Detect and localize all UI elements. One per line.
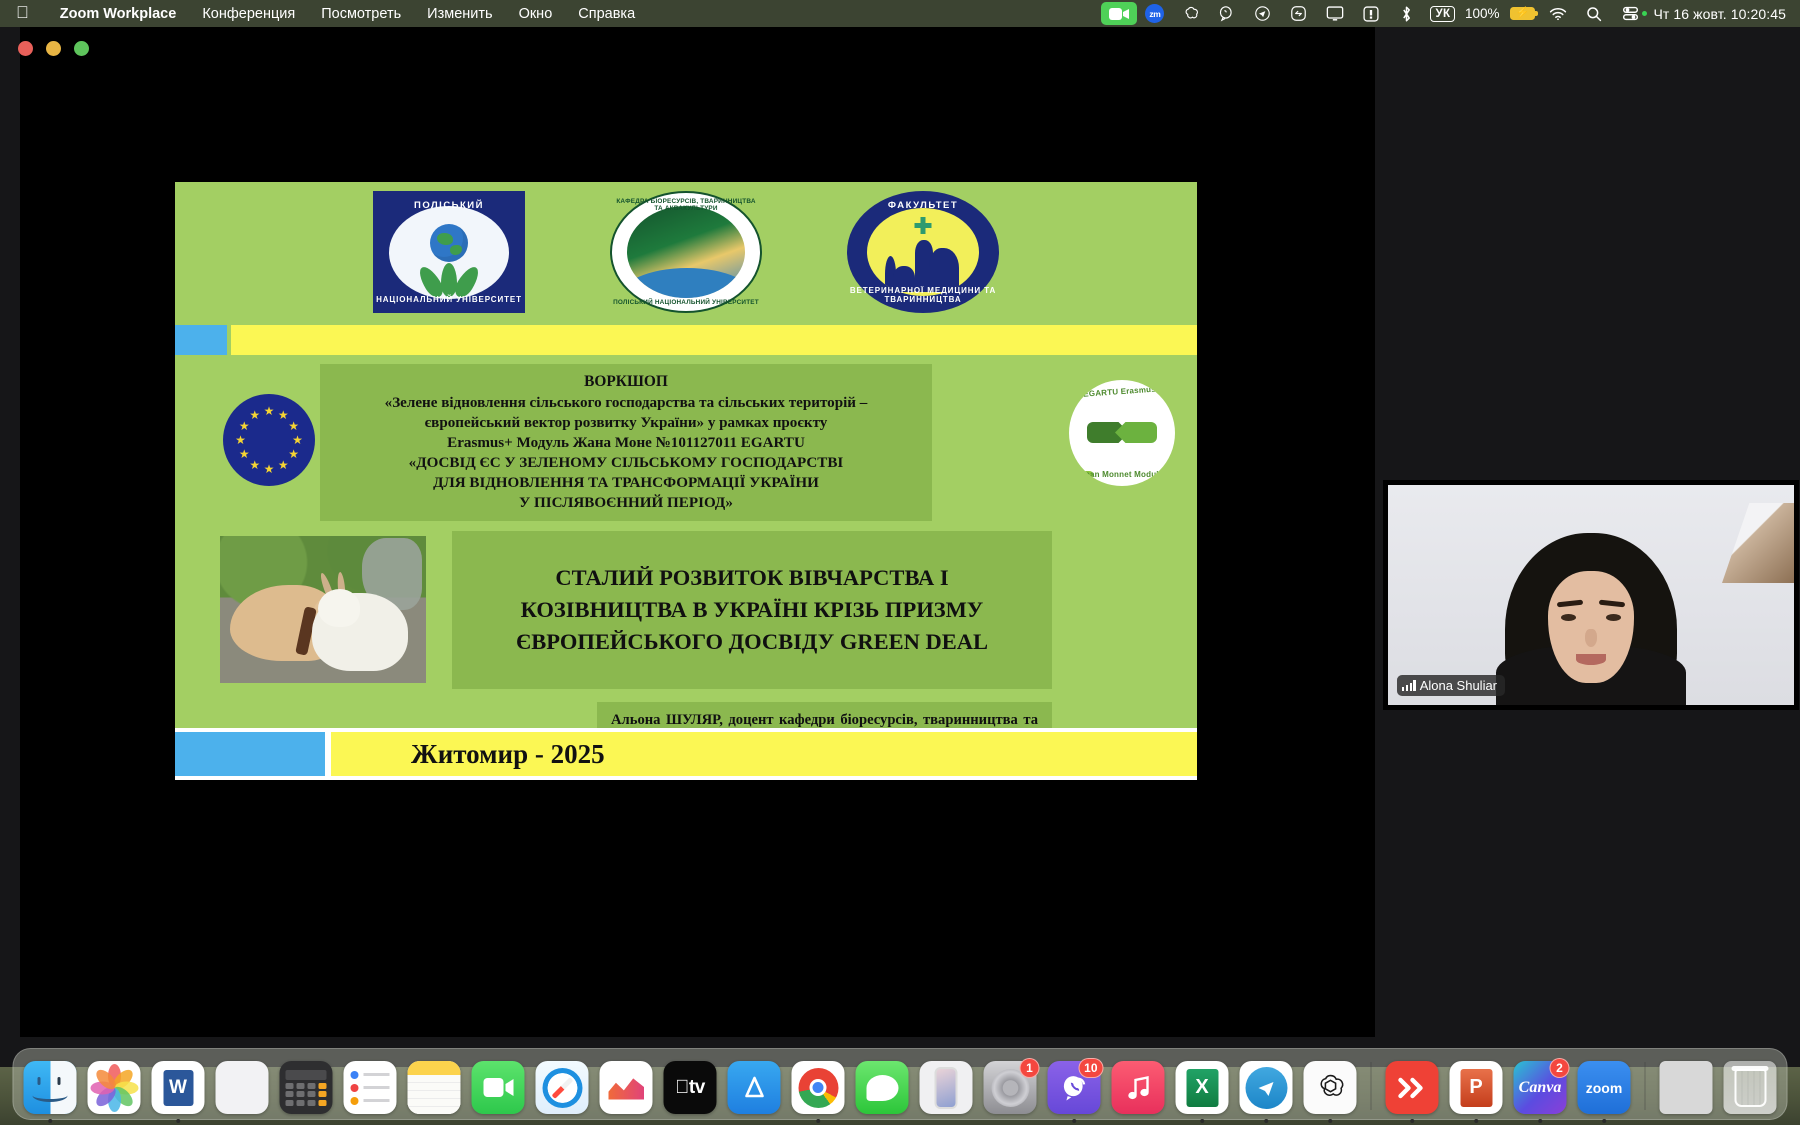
eu-star-icon: ★ <box>278 459 289 471</box>
dock-item-music[interactable] <box>1112 1061 1165 1114</box>
slide-logo-row: ПОЛІСЬКИЙ НАЦІОНАЛЬНИЙ УНІВЕРСИТЕТ КАФЕД… <box>175 182 1197 322</box>
participant-video-tile[interactable]: Alona Shuliar <box>1383 480 1799 710</box>
accent-bar-yellow <box>231 325 1197 355</box>
veterinary-cross-icon <box>915 217 932 234</box>
globe-icon <box>430 224 468 262</box>
accent-bar-blue <box>175 325 227 355</box>
shared-screen-stage: ПОЛІСЬКИЙ НАЦІОНАЛЬНИЙ УНІВЕРСИТЕТ КАФЕД… <box>20 27 1375 1037</box>
logo2-text-top: КАФЕДРА БІОРЕСУРСІВ, ТВАРИННИЦТВА ТА АКВ… <box>612 198 760 212</box>
dock-separator <box>1645 1062 1646 1110</box>
eu-star-icon: ★ <box>288 448 299 460</box>
app-running-indicator <box>1328 1119 1333 1124</box>
dock-item-zoom[interactable]: zoom <box>1578 1061 1631 1114</box>
dock-item-word[interactable]: W <box>152 1061 205 1114</box>
dock-item-trash[interactable] <box>1724 1061 1777 1114</box>
participant-name-badge: Alona Shuliar <box>1397 675 1505 696</box>
battery-percent: 100% <box>1461 6 1505 21</box>
menu-app-name[interactable]: Zoom Workplace <box>47 6 190 22</box>
menu-window[interactable]: Окно <box>506 6 566 22</box>
workshop-line-6: У ПІСЛЯВОЄННИЙ ПЕРІОД» <box>519 493 733 513</box>
minimize-window-button[interactable] <box>46 41 61 56</box>
eu-star-icon: ★ <box>288 420 299 432</box>
logo1-text-top: ПОЛІСЬКИЙ <box>373 200 525 211</box>
window-traffic-lights <box>18 41 89 56</box>
goat-and-sheep-photo <box>217 533 429 686</box>
dock-item-messages[interactable] <box>856 1061 909 1114</box>
menu-edit[interactable]: Изменить <box>414 6 505 22</box>
workshop-line-5: ДЛЯ ВІДНОВЛЕННЯ ТА ТРАНСФОРМАЦІЇ УКРАЇНИ <box>433 473 819 493</box>
polissia-national-university-logo: ПОЛІСЬКИЙ НАЦІОНАЛЬНИЙ УНІВЕРСИТЕТ <box>373 191 525 313</box>
veterinary-faculty-logo: ФАКУЛЬТЕТ ВЕТЕРИНАРНОЇ МЕДИЦИНИ ТА ТВАРИ… <box>847 191 999 313</box>
eu-star-icon: ★ <box>292 434 303 446</box>
search-icon[interactable] <box>1576 0 1612 27</box>
presentation-slide[interactable]: ПОЛІСЬКИЙ НАЦІОНАЛЬНИЙ УНІВЕРСИТЕТ КАФЕД… <box>175 182 1197 780</box>
app-running-indicator <box>1200 1119 1205 1124</box>
logo3-text-top: ФАКУЛЬТЕТ <box>847 200 999 211</box>
vet-silhouettes-icon <box>885 234 961 292</box>
app-running-indicator <box>1072 1119 1077 1124</box>
menu-bar-clock[interactable]: Чт 16 жовт. 10:20:45 <box>1647 6 1786 22</box>
title-line-2: КОЗІВНИЦТВА В УКРАЇНІ КРІЗЬ ПРИЗМУ <box>521 594 984 626</box>
department-bioresources-logo: КАФЕДРА БІОРЕСУРСІВ, ТВАРИННИЦТВА ТА АКВ… <box>610 191 762 313</box>
app-running-indicator <box>1264 1119 1269 1124</box>
dock-item-safari[interactable] <box>536 1061 589 1114</box>
dock-item-photos[interactable] <box>88 1061 141 1114</box>
dock-item-canva-badge: 2 <box>1550 1058 1570 1078</box>
dock[interactable]: Wtv110XPCanva2zoom <box>13 1048 1788 1120</box>
zoom-zm-icon[interactable]: zm <box>1137 0 1173 27</box>
eu-star-icon: ★ <box>249 459 260 471</box>
menu-help[interactable]: Справка <box>565 6 648 22</box>
workshop-line-2: європейський вектор розвитку України» у … <box>425 413 828 433</box>
close-window-button[interactable] <box>18 41 33 56</box>
telegram-icon[interactable] <box>1245 0 1281 27</box>
dock-item-system-settings[interactable]: 1 <box>984 1061 1037 1114</box>
footer-yellow-block: Житомир - 2025 <box>331 732 1197 776</box>
battery-charging-icon[interactable]: ⚡ <box>1504 0 1540 27</box>
dock-item-appletv[interactable]: tv <box>664 1061 717 1114</box>
zoom-meeting-window: ПОЛІСЬКИЙ НАЦІОНАЛЬНИЙ УНІВЕРСИТЕТ КАФЕД… <box>0 27 1800 1067</box>
logo3-text-bottom: ВЕТЕРИНАРНОЇ МЕДИЦИНИ ТА ТВАРИННИЦТВА <box>847 286 999 304</box>
app-running-indicator <box>1474 1119 1479 1124</box>
app-running-indicator <box>48 1119 53 1124</box>
app-running-indicator <box>176 1119 181 1124</box>
dock-item-reminders[interactable] <box>344 1061 397 1114</box>
eu-star-icon: ★ <box>235 434 246 446</box>
footer-city-year: Житомир - 2025 <box>411 739 605 770</box>
dock-item-notes[interactable] <box>408 1061 461 1114</box>
menu-bar-status-area: zm УК 100% ⚡ <box>1101 0 1800 27</box>
bluetooth-icon[interactable] <box>1389 0 1425 27</box>
european-union-flag: ★★★★★★★★★★★★ <box>223 394 315 486</box>
dock-item-calculator[interactable] <box>280 1061 333 1114</box>
dock-item-iphone-mirroring[interactable] <box>920 1061 973 1114</box>
app-running-indicator <box>816 1119 821 1124</box>
workshop-heading: ВОРКШОП <box>584 372 668 392</box>
anydesk-icon[interactable] <box>1281 0 1317 27</box>
logo1-text-bottom: НАЦІОНАЛЬНИЙ УНІВЕРСИТЕТ <box>373 295 525 304</box>
dock-item-anydesk[interactable] <box>1386 1061 1439 1114</box>
eu-star-icon: ★ <box>264 405 275 417</box>
app-running-indicator <box>1410 1119 1415 1124</box>
menu-bar-left:  Zoom Workplace Конференция Посмотреть … <box>0 5 648 22</box>
workshop-line-1: «Зелене відновлення сільського господарс… <box>385 393 868 413</box>
dock-separator <box>1371 1062 1372 1110</box>
maximize-window-button[interactable] <box>74 41 89 56</box>
dock-item-canva[interactable]: Canva2 <box>1514 1061 1567 1114</box>
title-line-1: СТАЛИЙ РОЗВИТОК ВІВЧАРСТВА І <box>555 562 948 594</box>
app-running-indicator <box>1538 1119 1543 1124</box>
workshop-text-box: ВОРКШОП «Зелене відновлення сільського г… <box>320 364 932 521</box>
openai-icon[interactable] <box>1173 0 1209 27</box>
dock-item-telegram[interactable] <box>1240 1061 1293 1114</box>
slide-main-title: СТАЛИЙ РОЗВИТОК ВІВЧАРСТВА І КОЗІВНИЦТВА… <box>452 531 1052 689</box>
dock-item-viber[interactable]: 10 <box>1048 1061 1101 1114</box>
display-icon[interactable] <box>1317 0 1353 27</box>
eu-star-icon: ★ <box>239 420 250 432</box>
wifi-icon[interactable] <box>1540 0 1576 27</box>
menu-bar:  Zoom Workplace Конференция Посмотреть … <box>0 0 1800 27</box>
dock-item-excel[interactable]: X <box>1176 1061 1229 1114</box>
dock-item-system-settings-badge: 1 <box>1020 1058 1040 1078</box>
egartu-text-bottom: Jean Monnet Module <box>1069 470 1175 479</box>
logo2-text-bottom: ПОЛІСЬКИЙ НАЦІОНАЛЬНИЙ УНІВЕРСИТЕТ <box>612 299 760 306</box>
eu-star-icon: ★ <box>264 463 275 475</box>
apple-logo-icon[interactable]:  <box>16 4 29 21</box>
dock-item-downloads-stack[interactable] <box>1660 1061 1713 1114</box>
participant-face <box>1548 571 1634 683</box>
viber-icon[interactable] <box>1209 0 1245 27</box>
dock-item-chrome[interactable] <box>792 1061 845 1114</box>
animals-landscape-emblem <box>627 206 745 298</box>
signal-bars-icon <box>1402 680 1416 691</box>
dock-item-chatgpt[interactable] <box>1304 1061 1357 1114</box>
dock-item-facetime[interactable] <box>472 1061 525 1114</box>
footer-blue-block <box>175 732 325 776</box>
alert-icon[interactable] <box>1353 0 1389 27</box>
dock-item-powerpoint[interactable]: P <box>1450 1061 1503 1114</box>
workshop-line-3: Erasmus+ Модуль Жана Моне №101127011 EGA… <box>447 433 805 453</box>
workshop-line-4: «ДОСВІД ЄС У ЗЕЛЕНОМУ СІЛЬСЬКОМУ ГОСПОДА… <box>409 453 844 473</box>
egartu-erasmus-jean-monnet-logo: EGARTU Erasmus+ Jean Monnet Module <box>1069 380 1175 486</box>
control-center-icon[interactable] <box>1612 0 1648 27</box>
participant-name-label: Alona Shuliar <box>1420 678 1497 693</box>
menu-conference[interactable]: Конференция <box>189 6 308 22</box>
slide-footer-bar: Житомир - 2025 <box>175 728 1197 780</box>
input-source-label: УК <box>1430 6 1455 22</box>
slide-accent-bar-top <box>175 325 1197 355</box>
menu-view[interactable]: Посмотреть <box>308 6 414 22</box>
eu-star-icon: ★ <box>278 409 289 421</box>
dock-item-finder[interactable] <box>24 1061 77 1114</box>
dock-item-launchpad[interactable] <box>216 1061 269 1114</box>
eu-star-icon: ★ <box>239 448 250 460</box>
input-source-uk-icon[interactable]: УК <box>1425 0 1461 27</box>
egartu-text-top: EGARTU Erasmus+ <box>1069 383 1175 399</box>
title-line-3: ЄВРОПЕЙСЬКОГО ДОСВІДУ GREEN DEAL <box>516 626 988 658</box>
dock-item-stocks[interactable] <box>600 1061 653 1114</box>
eu-star-icon: ★ <box>249 409 260 421</box>
leaves-icon <box>419 259 479 299</box>
handshake-icon <box>1087 416 1157 450</box>
video-camera-icon[interactable] <box>1101 0 1137 27</box>
dock-item-viber-badge: 10 <box>1078 1058 1103 1078</box>
dock-item-appstore[interactable] <box>728 1061 781 1114</box>
app-running-indicator <box>1602 1119 1607 1124</box>
